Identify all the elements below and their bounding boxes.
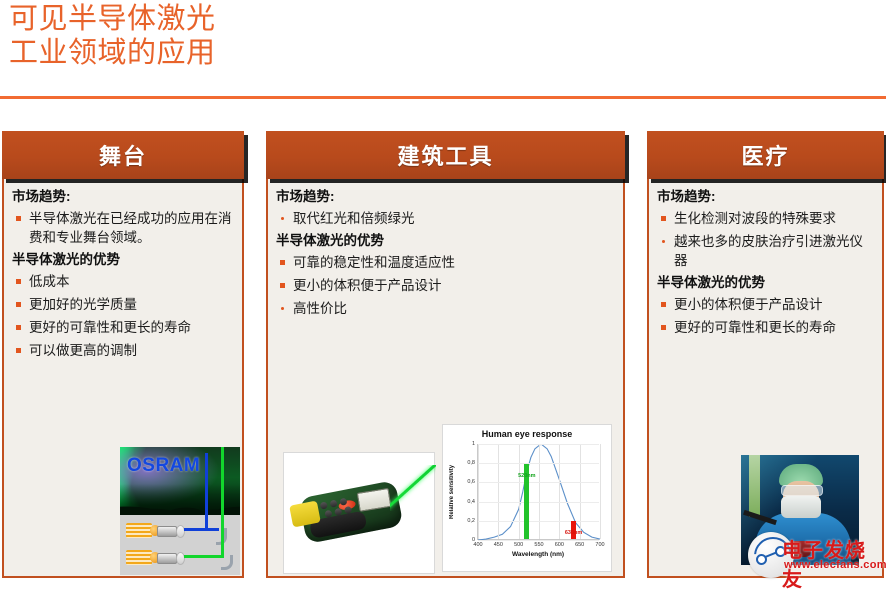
chart-gridline-v — [498, 444, 499, 539]
chart-gridline-h — [478, 463, 599, 464]
diode-barrel-icon — [157, 553, 177, 564]
chart-x-tick-label: 600 — [555, 542, 564, 548]
chart-y-tick-label: 0,2 — [467, 518, 475, 524]
list-item-label: 低成本 — [29, 274, 70, 289]
section-subtitle: 半导体激光的优势 — [12, 251, 234, 269]
bullet-marker-icon — [16, 325, 21, 330]
bullet-marker-icon — [16, 302, 21, 307]
page-title: 可见半导体激光 工业领域的应用 — [9, 2, 609, 70]
chart-gridline-v — [539, 444, 540, 539]
chart-band-label-520nm: 520nm — [518, 473, 535, 479]
bullet-marker-icon — [280, 260, 285, 265]
section-subtitle: 市场趋势: — [657, 188, 874, 206]
chart-gridline-v — [600, 444, 601, 539]
fiber-green-h — [184, 555, 224, 558]
list-item-label: 生化检测对波段的特殊要求 — [674, 211, 836, 226]
chart-band-label-635nm: 635nm — [565, 530, 582, 536]
heatsink-icon — [126, 550, 152, 565]
chart-x-tick-label: 700 — [595, 542, 604, 548]
column-header-label: 医疗 — [741, 139, 789, 171]
chart-gridline-h — [478, 482, 599, 483]
chart-y-tick-label: 0,6 — [467, 479, 475, 485]
list-item: 更小的体积便于产品设计 — [657, 295, 874, 314]
chart-gridline-h — [478, 540, 599, 541]
list-item: 取代红光和倍频绿光 — [276, 209, 615, 228]
bullet-list: 低成本 更加好的光学质量 更好的可靠性和更长的寿命 可以做更高的调制 — [12, 272, 234, 360]
chart-gridline-v — [478, 444, 479, 539]
column-header-stage: 舞台 — [2, 131, 244, 179]
chart-x-tick-label: 550 — [534, 542, 543, 548]
green-laser-rangefinder-photo — [283, 452, 435, 574]
key — [344, 506, 352, 514]
chart-gridline-v — [559, 444, 560, 539]
surgical-mask — [781, 496, 821, 518]
safety-glasses — [781, 485, 823, 496]
list-item-label: 可靠的稳定性和温度适应性 — [293, 255, 455, 270]
chart-gridline-h — [478, 502, 599, 503]
diode-barrel-icon — [157, 526, 177, 537]
chart-gridline-v — [519, 444, 520, 539]
bullet-marker-icon — [281, 217, 284, 220]
list-item: 更小的体积便于产品设计 — [276, 276, 615, 295]
bullet-marker-icon — [662, 240, 665, 243]
title-divider — [0, 96, 886, 99]
fiber-green-v — [221, 447, 224, 558]
list-item: 生化检测对波段的特殊要求 — [657, 209, 874, 228]
list-item: 更加好的光学质量 — [12, 295, 234, 314]
list-item: 可靠的稳定性和温度适应性 — [276, 253, 615, 272]
bullet-marker-icon — [661, 325, 666, 330]
chart-gridline-h — [478, 444, 599, 445]
chart-y-tick-label: 0 — [472, 537, 475, 543]
list-item: 更好的可靠性和更长的寿命 — [657, 318, 874, 337]
bullet-marker-icon — [16, 279, 21, 284]
chart-title: Human eye response — [443, 429, 611, 439]
section-subtitle: 半导体激光的优势 — [657, 274, 874, 292]
chart-y-tick-label: 1 — [472, 441, 475, 447]
chart-x-tick-label: 650 — [575, 542, 584, 548]
column-header-construction-tools: 建筑工具 — [266, 131, 625, 179]
list-item: 可以做更高的调制 — [12, 341, 234, 360]
list-item-label: 更好的可靠性和更长的寿命 — [674, 320, 836, 335]
list-item: 低成本 — [12, 272, 234, 291]
iv-tube — [749, 455, 760, 517]
column-header-label: 舞台 — [99, 139, 147, 171]
list-item-label: 更小的体积便于产品设计 — [293, 278, 442, 293]
laser-diode-green — [126, 550, 186, 565]
list-item-label: 半导体激光在已经成功的应用在消费和专业舞台领域。 — [29, 211, 232, 245]
section-subtitle: 半导体激光的优势 — [276, 232, 615, 250]
list-item: 高性价比 — [276, 299, 615, 318]
column-header-label: 建筑工具 — [397, 139, 493, 171]
section-subtitle: 市场趋势: — [276, 188, 615, 206]
chart-y-tick-label: 0,8 — [467, 460, 475, 466]
laser-diode-blue — [126, 523, 186, 538]
bullet-list: 生化检测对波段的特殊要求 越来也多的皮肤治疗引进激光仪器 — [657, 209, 874, 270]
key — [334, 508, 342, 516]
diode-lens-icon — [176, 525, 185, 538]
list-item-label: 越来也多的皮肤治疗引进激光仪器 — [674, 234, 863, 268]
bullet-list: 可靠的稳定性和温度适应性 更小的体积便于产品设计 高性价比 — [276, 253, 615, 318]
key — [339, 498, 347, 506]
bullet-marker-icon — [16, 216, 21, 221]
bullet-marker-icon — [281, 307, 284, 310]
bullet-marker-icon — [280, 283, 285, 288]
section-subtitle: 市场趋势: — [12, 188, 234, 206]
chart-x-tick-label: 500 — [514, 542, 523, 548]
key — [320, 501, 328, 509]
list-item-label: 高性价比 — [293, 301, 347, 316]
diode-lens-icon — [176, 552, 185, 565]
chart-gridline-h — [478, 521, 599, 522]
bullet-marker-icon — [661, 216, 666, 221]
chart-y-axis-label: Relative sensitivity — [449, 444, 455, 540]
surgeon-operating-photo — [741, 455, 859, 565]
list-item-label: 更好的可靠性和更长的寿命 — [29, 320, 191, 335]
human-eye-response-chart: Human eye response Relative sensitivity … — [442, 424, 612, 572]
list-item-label: 可以做更高的调制 — [29, 343, 137, 358]
fiber-green-bend — [221, 555, 233, 570]
column-header-medical: 医疗 — [647, 131, 884, 179]
bullet-marker-icon — [661, 302, 666, 307]
list-item-label: 更加好的光学质量 — [29, 297, 137, 312]
chart-x-axis-label: Wavelength (nm) — [477, 551, 599, 558]
list-item: 越来也多的皮肤治疗引进激光仪器 — [657, 232, 874, 270]
chart-plot-area: 40045050055060065070000,20,40,60,81520nm… — [477, 444, 599, 540]
rangefinder-display — [357, 488, 392, 512]
key — [329, 500, 337, 508]
surgical-field — [771, 541, 811, 557]
key — [324, 510, 332, 518]
chart-y-tick-label: 0,4 — [467, 499, 475, 505]
chart-gridline-v — [580, 444, 581, 539]
osram-laser-show-photo: OSRAM — [120, 447, 240, 575]
bullet-list: 取代红光和倍频绿光 — [276, 209, 615, 228]
slide-root: 可见半导体激光 工业领域的应用 舞台 市场趋势: 半导体激光在已经成功的应用在消… — [0, 0, 886, 592]
bullet-list: 更小的体积便于产品设计 更好的可靠性和更长的寿命 — [657, 295, 874, 337]
list-item-label: 取代红光和倍频绿光 — [293, 211, 415, 226]
bullet-marker-icon — [16, 348, 21, 353]
list-item: 半导体激光在已经成功的应用在消费和专业舞台领域。 — [12, 209, 234, 247]
green-laser-beam — [390, 465, 436, 511]
list-item-label: 更小的体积便于产品设计 — [674, 297, 823, 312]
chart-x-tick-label: 450 — [494, 542, 503, 548]
list-item: 更好的可靠性和更长的寿命 — [12, 318, 234, 337]
heatsink-icon — [126, 523, 152, 538]
fiber-blue-v — [205, 453, 208, 531]
osram-logo: OSRAM — [127, 455, 200, 477]
laser-diode-diagram — [120, 515, 240, 575]
bullet-list: 半导体激光在已经成功的应用在消费和专业舞台领域。 — [12, 209, 234, 247]
